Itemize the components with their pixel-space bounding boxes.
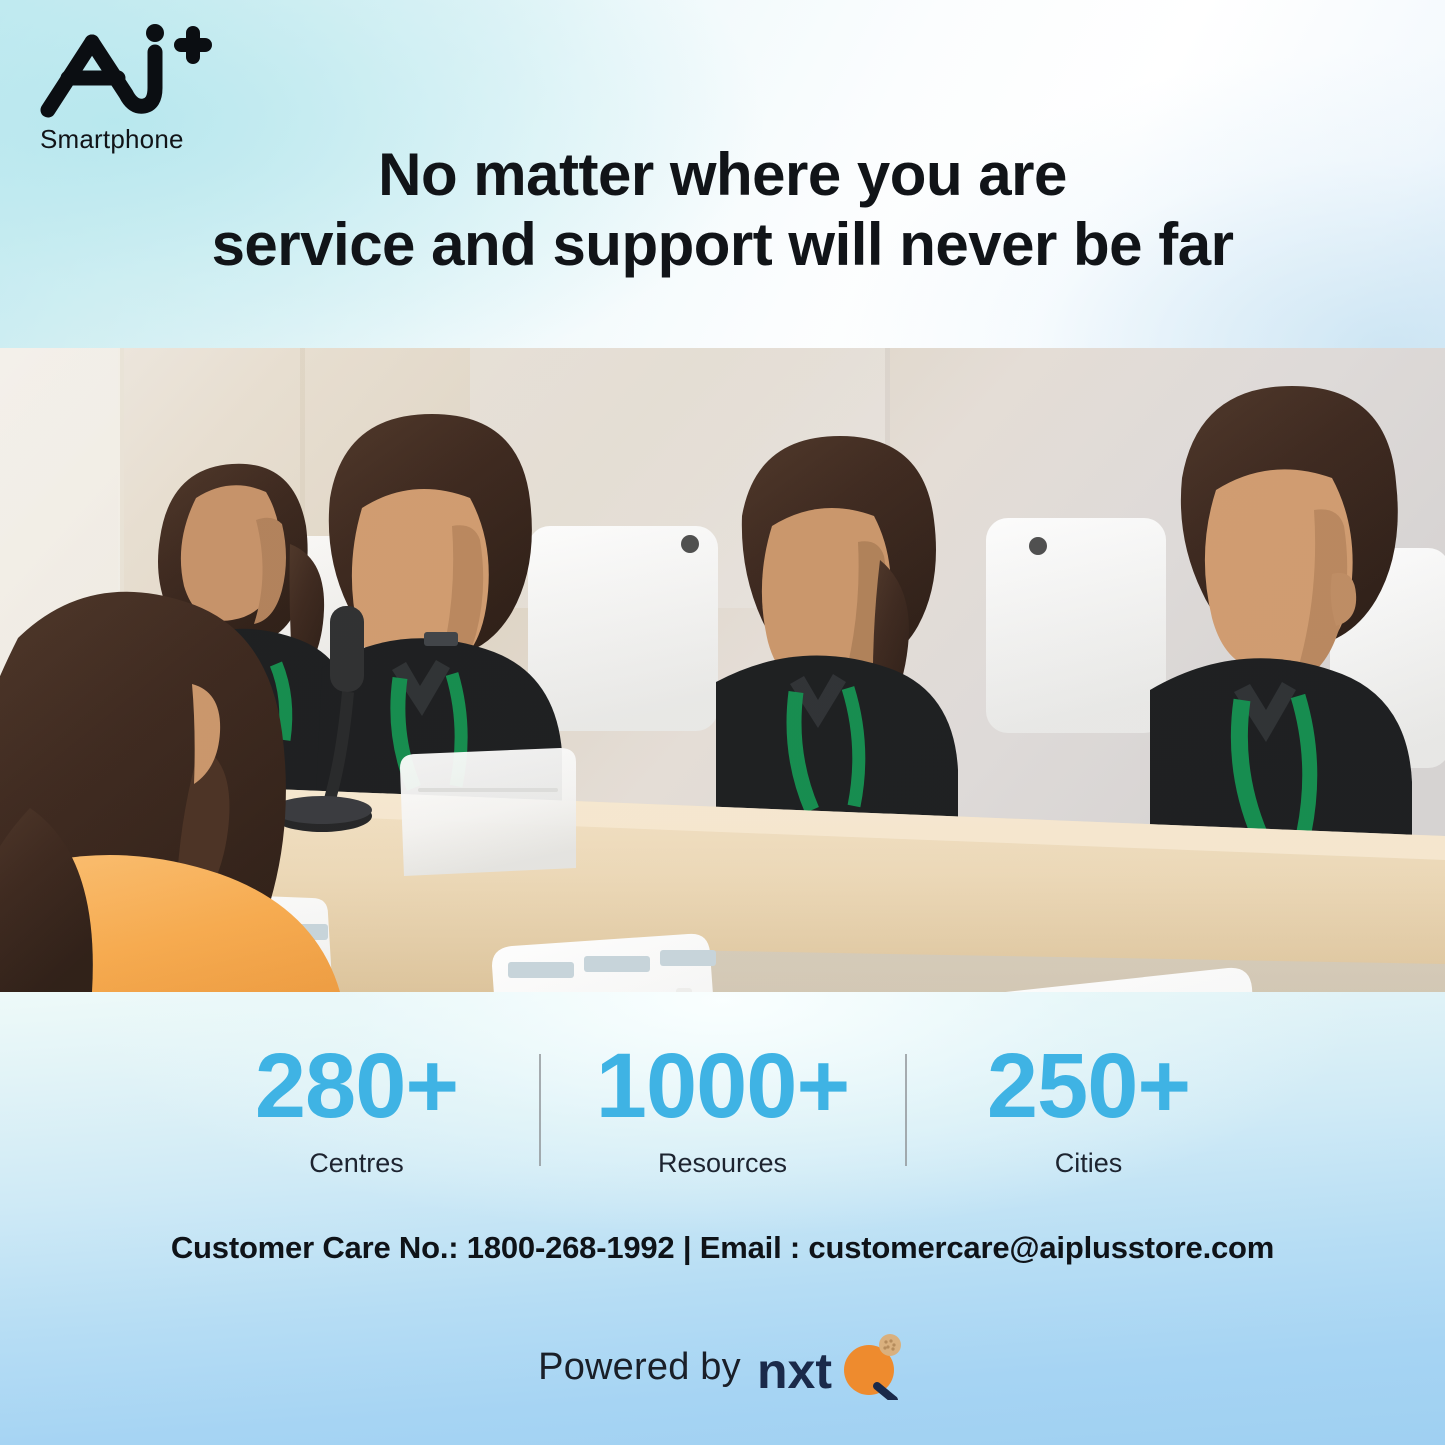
contact-line[interactable]: Customer Care No.: 1800-268-1992 | Email…	[0, 1230, 1445, 1266]
poster-root: Smartphone No matter where you are servi…	[0, 0, 1445, 1445]
stat-cities-value: 250+	[919, 1040, 1259, 1132]
nxtq-dots-circle-icon	[879, 1334, 901, 1356]
headline-line-2: service and support will never be far	[0, 210, 1445, 280]
brand-logo[interactable]: Smartphone	[34, 22, 234, 155]
nxtq-logo-icon[interactable]: nxt	[757, 1334, 907, 1400]
stats-row: 280+ Centres 1000+ Resources 250+ Cities	[0, 1040, 1445, 1179]
stat-divider-1	[539, 1054, 541, 1166]
logo-plus-icon	[174, 26, 212, 64]
stat-centres: 280+ Centres	[187, 1040, 527, 1179]
headline-line-1: No matter where you are	[378, 141, 1067, 208]
top-banner: Smartphone No matter where you are servi…	[0, 0, 1445, 348]
stat-resources-value: 1000+	[553, 1040, 893, 1132]
aiplus-logo-icon	[34, 22, 212, 122]
stat-cities-label: Cities	[919, 1148, 1259, 1179]
stat-resources-label: Resources	[553, 1148, 893, 1179]
photo-illustration: 1 Aiplusstore 4 Aiplusstore	[0, 348, 1445, 992]
service-centre-photo: 1 Aiplusstore 4 Aiplusstore	[0, 348, 1445, 992]
page-title: No matter where you are service and supp…	[0, 140, 1445, 279]
stat-centres-value: 280+	[187, 1040, 527, 1132]
logo-dot-icon	[146, 24, 164, 42]
stat-resources: 1000+ Resources	[553, 1040, 893, 1179]
powered-by-label: Powered by	[538, 1346, 741, 1389]
powered-by-block: Powered by nxt	[0, 1334, 1445, 1400]
bottom-banner: 280+ Centres 1000+ Resources 250+ Cities…	[0, 992, 1445, 1445]
stat-divider-2	[905, 1054, 907, 1166]
stat-centres-label: Centres	[187, 1148, 527, 1179]
stat-cities: 250+ Cities	[919, 1040, 1259, 1179]
nxtq-wordmark: nxt	[757, 1343, 832, 1399]
